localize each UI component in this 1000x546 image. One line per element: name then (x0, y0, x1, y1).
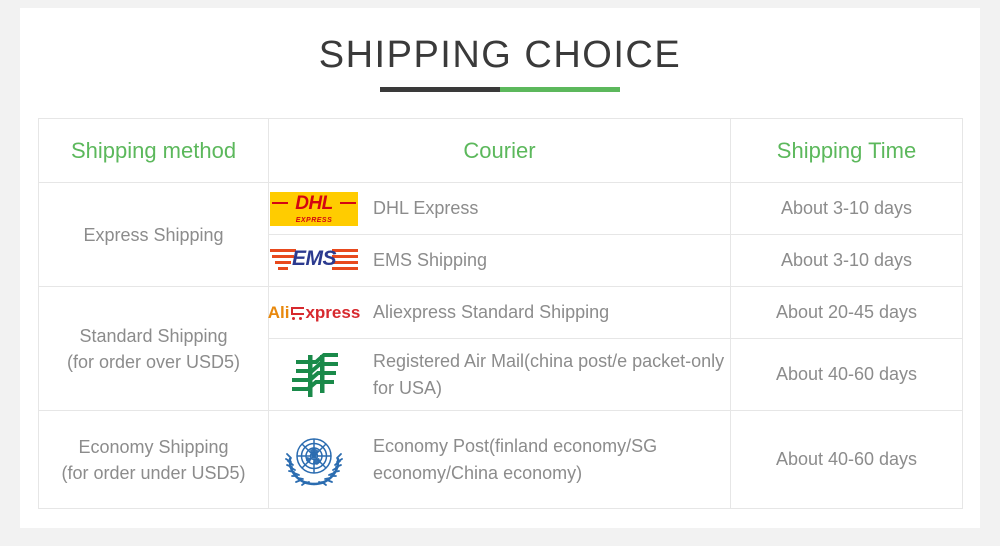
shipping-time-cell: About 40-60 days (731, 339, 963, 411)
title-underline-green-segment (500, 87, 620, 92)
title-underline-dark-segment (380, 87, 500, 92)
courier-cell-economy-post: Economy Post(finland economy/SG economy/… (269, 411, 731, 509)
shipping-method-cell-express: Express Shipping (39, 183, 269, 287)
shopping-cart-icon (290, 306, 305, 320)
shipping-method-cell-economy: Economy Shipping (for order under USD5) (39, 411, 269, 509)
ems-logo-text: EMS (270, 247, 358, 271)
shipping-time-cell: About 3-10 days (731, 183, 963, 235)
courier-name: Economy Post(finland economy/SG economy/… (373, 433, 730, 487)
table-row: Standard Shipping (for order over USD5) … (39, 287, 963, 339)
column-header-shipping-time: Shipping Time (731, 119, 963, 183)
shipping-time-cell: About 40-60 days (731, 411, 963, 509)
dhl-logo: DHL EXPRESS (269, 192, 359, 226)
shipping-time-cell: About 3-10 days (731, 235, 963, 287)
china-post-logo (269, 350, 359, 400)
shipping-method-label: Economy Shipping (39, 434, 268, 460)
courier-name: Aliexpress Standard Shipping (373, 299, 609, 326)
dhl-logo-subtext: EXPRESS (270, 217, 358, 224)
shipping-method-note: (for order over USD5) (39, 349, 268, 375)
aliexpress-logo-text-xpress: xpress (305, 303, 360, 323)
ems-logo: EMS (269, 244, 359, 278)
title-block: SHIPPING CHOICE (20, 32, 980, 92)
courier-cell-dhl: DHL EXPRESS DHL Express (269, 183, 731, 235)
courier-cell-aliexpress: Alixpress Aliexpress Standard Shipping (269, 287, 731, 339)
shipping-choice-table: Shipping method Courier Shipping Time Ex… (38, 118, 963, 509)
courier-cell-china-post: Registered Air Mail(china post/e packet-… (269, 339, 731, 411)
table-row: Express Shipping DHL EXPRESS DHL Expr (39, 183, 963, 235)
dhl-logo-text: DHL (270, 193, 358, 215)
shipping-time-cell: About 20-45 days (731, 287, 963, 339)
united-nations-logo (269, 432, 359, 488)
shipping-info-card: SHIPPING CHOICE Shipping method Courier … (20, 8, 980, 528)
table-row: Economy Shipping (for order under USD5) (39, 411, 963, 509)
courier-name: DHL Express (373, 195, 478, 222)
aliexpress-logo: Alixpress (269, 300, 359, 326)
column-header-courier: Courier (269, 119, 731, 183)
shipping-method-label: Standard Shipping (39, 323, 268, 349)
shipping-method-note: (for order under USD5) (39, 460, 268, 486)
title-underline (380, 87, 620, 92)
courier-cell-ems: EMS EMS Shipping (269, 235, 731, 287)
aliexpress-logo-text-ali: Ali (268, 303, 290, 323)
page-title: SHIPPING CHOICE (20, 32, 980, 78)
shipping-method-cell-standard: Standard Shipping (for order over USD5) (39, 287, 269, 411)
table-header-row: Shipping method Courier Shipping Time (39, 119, 963, 183)
courier-name: EMS Shipping (373, 247, 487, 274)
shipping-method-label: Express Shipping (39, 222, 268, 248)
column-header-shipping-method: Shipping method (39, 119, 269, 183)
courier-name: Registered Air Mail(china post/e packet-… (373, 348, 730, 402)
